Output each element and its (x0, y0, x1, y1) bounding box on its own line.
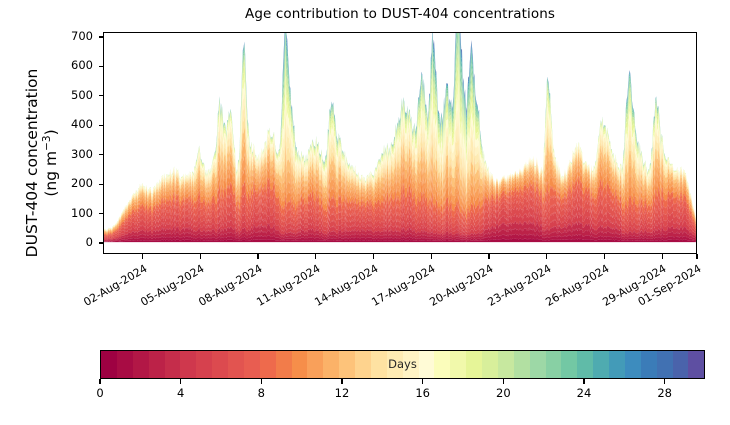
colorbar-segment (403, 351, 419, 378)
colorbar-segment (625, 351, 641, 378)
x-tick-mark (373, 254, 374, 259)
colorbar-segment (117, 351, 133, 378)
colorbar-segment (165, 351, 181, 378)
plot-area[interactable] (103, 32, 697, 254)
x-tick-mark (315, 254, 316, 259)
y-tick-label: 600 (71, 58, 93, 72)
colorbar-segment (577, 351, 593, 378)
colorbar-segment (355, 351, 371, 378)
y-tick-label: 300 (71, 147, 93, 161)
colorbar-segment (419, 351, 435, 378)
x-tick-mark (604, 254, 605, 259)
colorbar-segment (260, 351, 276, 378)
colorbar-segment (466, 351, 482, 378)
y-tick-label: 0 (86, 235, 93, 249)
colorbar-segment (339, 351, 355, 378)
colorbar-tick-mark (503, 379, 504, 384)
colorbar-tick-mark (664, 379, 665, 384)
colorbar-tick-mark (583, 379, 584, 384)
colorbar-segment (307, 351, 323, 378)
page-title: Age contribution to DUST-404 concentrati… (103, 6, 697, 22)
y-tick-label: 200 (71, 176, 93, 190)
colorbar-tick-label: 12 (322, 386, 362, 400)
colorbar-tick-label: 24 (564, 386, 604, 400)
y-axis-label-line2: (ng m−3) (41, 69, 60, 258)
colorbar-segment (149, 351, 165, 378)
colorbar-tick-mark (341, 379, 342, 384)
colorbar-segment (276, 351, 292, 378)
colorbar-tick-mark (422, 379, 423, 384)
colorbar-segment (482, 351, 498, 378)
colorbar-tick-label: 4 (161, 386, 201, 400)
colorbar-segment (450, 351, 466, 378)
colorbar-segment (244, 351, 260, 378)
colorbar-segment (228, 351, 244, 378)
x-tick-mark (662, 254, 663, 259)
x-tick-mark (142, 254, 143, 259)
colorbar-segment (434, 351, 450, 378)
colorbar-segment (180, 351, 196, 378)
y-tick-label: 400 (71, 117, 93, 131)
colorbar-segment (641, 351, 657, 378)
x-tick-mark (257, 254, 258, 259)
colorbar-segment (498, 351, 514, 378)
y-tick-label: 100 (71, 206, 93, 220)
colorbar-tick-label: 28 (645, 386, 685, 400)
colorbar-tick-mark (99, 379, 100, 384)
colorbar-segment (688, 351, 704, 378)
colorbar-segment (593, 351, 609, 378)
colorbar-segment (387, 351, 403, 378)
colorbar-tick-label: 0 (80, 386, 120, 400)
colorbar-segment (196, 351, 212, 378)
colorbar[interactable] (100, 350, 705, 379)
y-axis-label: DUST-404 concentration (ng m−3) (22, 33, 62, 293)
colorbar-segment (101, 351, 117, 378)
colorbar-segment (323, 351, 339, 378)
colorbar-segment (514, 351, 530, 378)
colorbar-segment (561, 351, 577, 378)
x-tick-mark (431, 254, 432, 259)
x-tick-mark (696, 254, 697, 259)
x-tick-mark (200, 254, 201, 259)
colorbar-segment (292, 351, 308, 378)
colorbar-tick-label: 16 (403, 386, 443, 400)
colorbar-segment (530, 351, 546, 378)
x-tick-mark (546, 254, 547, 259)
colorbar-segment (657, 351, 673, 378)
colorbar-segment (212, 351, 228, 378)
y-tick-label: 700 (71, 29, 93, 43)
y-axis-label-line1: DUST-404 concentration (23, 69, 41, 258)
colorbar-tick-label: 20 (483, 386, 523, 400)
colorbar-tick-mark (180, 379, 181, 384)
colorbar-segment (546, 351, 562, 378)
colorbar-tick-mark (261, 379, 262, 384)
colorbar-segment (133, 351, 149, 378)
colorbar-segment (673, 351, 689, 378)
stacked-area-chart (104, 33, 696, 253)
colorbar-segment (609, 351, 625, 378)
colorbar-tick-label: 8 (241, 386, 281, 400)
colorbar-segment (371, 351, 387, 378)
y-tick-label: 500 (71, 88, 93, 102)
x-tick-mark (488, 254, 489, 259)
